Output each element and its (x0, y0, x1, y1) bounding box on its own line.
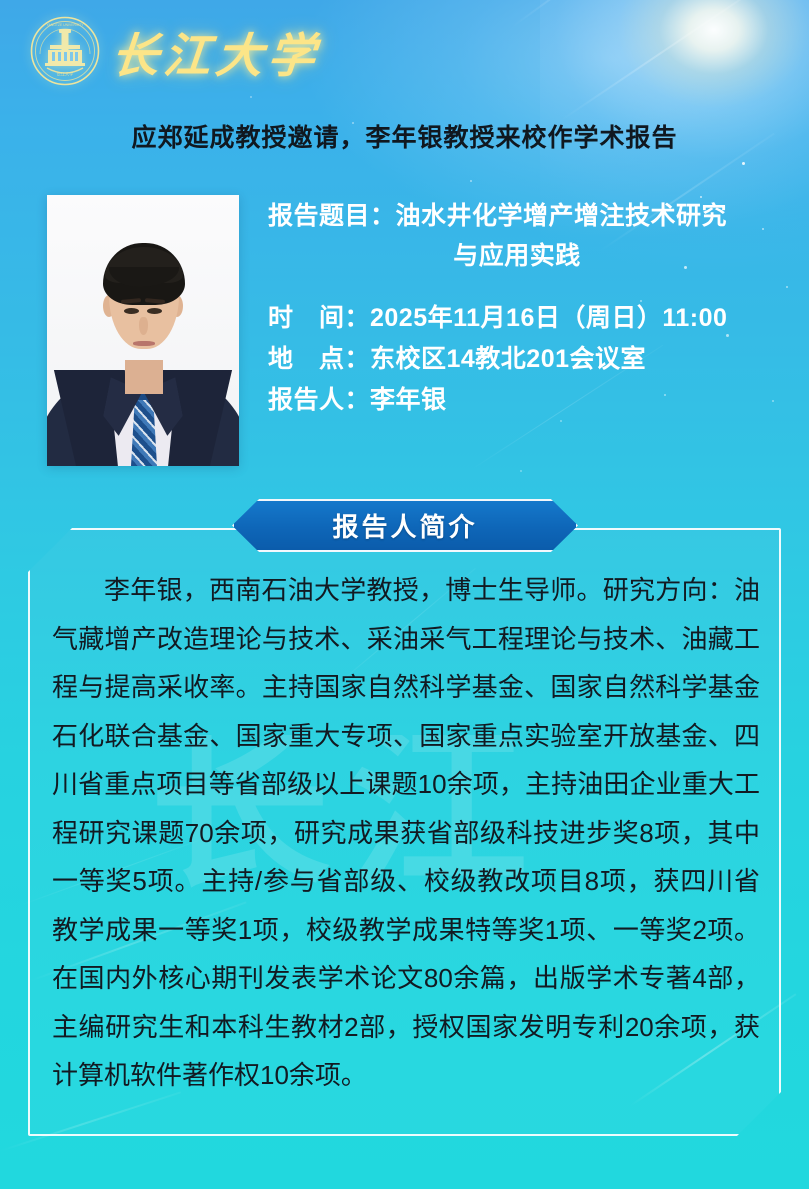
page-title: 应郑延成教授邀请，李年银教授来校作学术报告 (0, 118, 809, 154)
event-place: 地 点：东校区14教北201会议室 (268, 339, 780, 380)
university-crest-icon: YANGTZE UNIVERSITY 长江大学 (28, 14, 102, 88)
speaker-portrait (47, 195, 239, 466)
report-topic-line2: 与应用实践 (268, 236, 780, 276)
university-name: 长江大学 (109, 17, 323, 86)
university-logo: YANGTZE UNIVERSITY 长江大学 长江大学 (28, 14, 320, 88)
event-speaker: 报告人：李年银 (268, 380, 780, 421)
bio-paragraph: 李年银，西南石油大学教授，博士生导师。研究方向：油气藏增产改造理论与技术、采油采… (52, 566, 760, 1100)
event-time: 时 间：2025年11月16日（周日）11:00 (268, 298, 780, 339)
light-streak (511, 0, 755, 28)
light-streak (560, 0, 776, 121)
report-topic-line1: 报告题目：油水井化学增产增注技术研究 (268, 196, 780, 236)
event-details: 报告题目：油水井化学增产增注技术研究 与应用实践 时 间：2025年11月16日… (268, 196, 780, 421)
poster-root: YANGTZE UNIVERSITY 长江大学 长江大学 应郑延成教授邀请，李年… (0, 0, 809, 1189)
bio-badge-label: 报告人简介 (232, 499, 578, 552)
svg-text:YANGTZE UNIVERSITY: YANGTZE UNIVERSITY (46, 23, 84, 27)
svg-text:长江大学: 长江大学 (57, 71, 74, 78)
